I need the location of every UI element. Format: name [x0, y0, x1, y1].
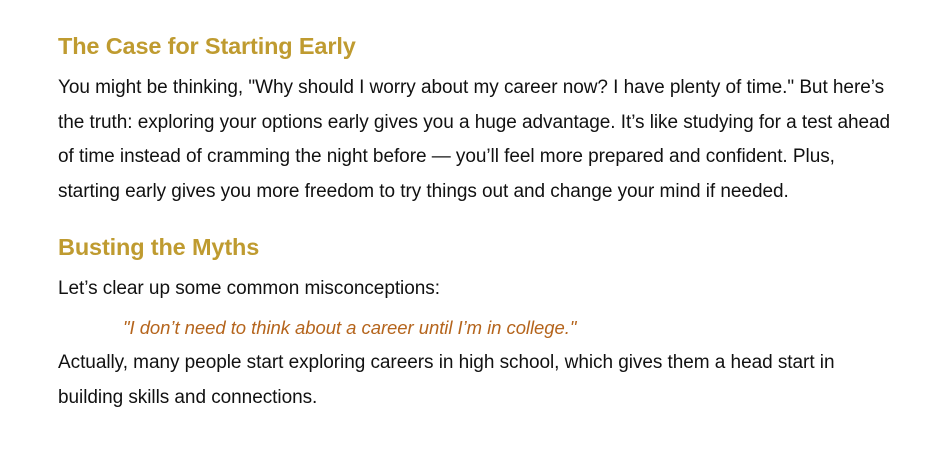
section-heading-busting-myths: Busting the Myths	[58, 209, 892, 262]
paragraph-myth-rebuttal: Actually, many people start exploring ca…	[58, 344, 892, 415]
myth-quote: "I don’t need to think about a career un…	[58, 307, 892, 344]
document-page: The Case for Starting Early You might be…	[0, 0, 946, 458]
article-body: The Case for Starting Early You might be…	[58, 0, 892, 415]
paragraph-myths-lead-in: Let’s clear up some common misconception…	[58, 262, 892, 307]
paragraph-starting-early: You might be thinking, "Why should I wor…	[58, 61, 892, 209]
section-heading-starting-early: The Case for Starting Early	[58, 0, 892, 61]
